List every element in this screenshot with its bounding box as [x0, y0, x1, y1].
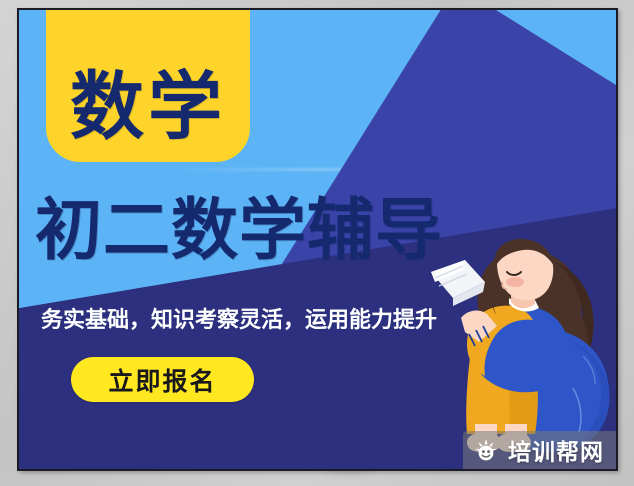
- page-title: 初二数学辅导: [35, 196, 443, 264]
- sun-face-icon: [473, 437, 499, 463]
- subject-badge: 数学: [46, 10, 250, 162]
- signup-button-label: 立即报名: [108, 362, 216, 398]
- promo-poster: 数学 初二数学辅导 务实基础，知识考察灵活，运用能力提升 立即报名: [17, 8, 618, 471]
- poster-subtitle: 务实基础，知识考察灵活，运用能力提升: [41, 302, 437, 334]
- poster-screenshot: 数学 初二数学辅导 务实基础，知识考察灵活，运用能力提升 立即报名: [0, 0, 634, 486]
- watermark-label: 培训帮网: [508, 433, 604, 467]
- signup-button[interactable]: 立即报名: [71, 357, 254, 402]
- poster-canvas: 数学 初二数学辅导 务实基础，知识考察灵活，运用能力提升 立即报名: [19, 10, 616, 469]
- subject-badge-label: 数学: [70, 70, 226, 144]
- watermark: 培训帮网: [463, 431, 616, 469]
